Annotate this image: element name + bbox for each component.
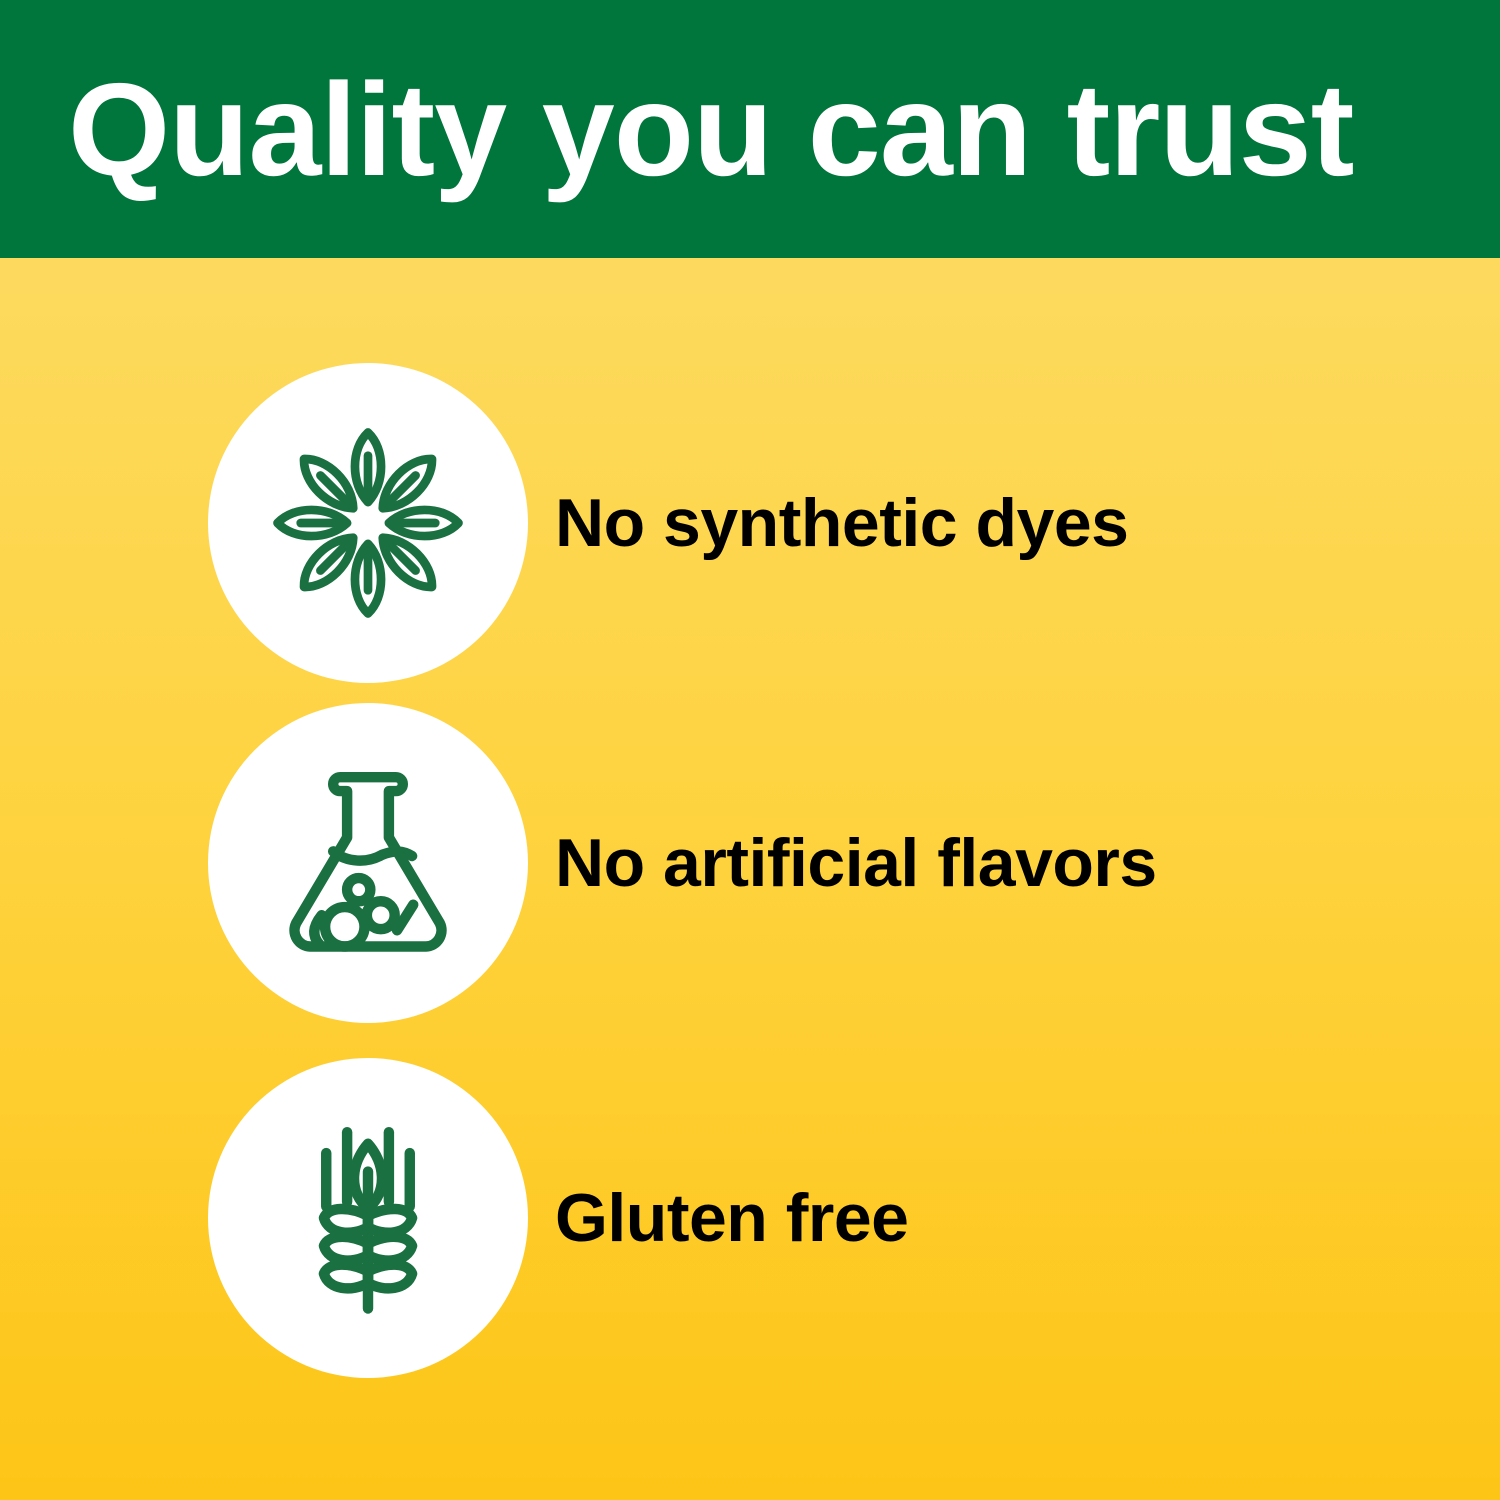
feature-list: No synthetic dyes [0, 258, 1500, 1500]
page-title: Quality you can trust [68, 64, 1441, 196]
quality-infographic: Quality you can trust [0, 0, 1500, 1500]
feature-item-gluten-free: Gluten free [208, 1058, 908, 1378]
feature-label: No artificial flavors [555, 827, 1157, 899]
feature-icon-badge [208, 1058, 528, 1378]
feature-label: No synthetic dyes [555, 487, 1128, 559]
feature-label: Gluten free [555, 1182, 908, 1254]
feature-item-no-artificial-flavors: No artificial flavors [208, 703, 1157, 1023]
flower-petals-icon [252, 407, 484, 639]
erlenmeyer-flask-icon [252, 747, 484, 979]
header-banner: Quality you can trust [0, 0, 1500, 258]
feature-icon-badge [208, 703, 528, 1023]
feature-icon-badge [208, 363, 528, 683]
feature-item-no-synthetic-dyes: No synthetic dyes [208, 363, 1128, 683]
wheat-stalk-icon [252, 1102, 484, 1334]
